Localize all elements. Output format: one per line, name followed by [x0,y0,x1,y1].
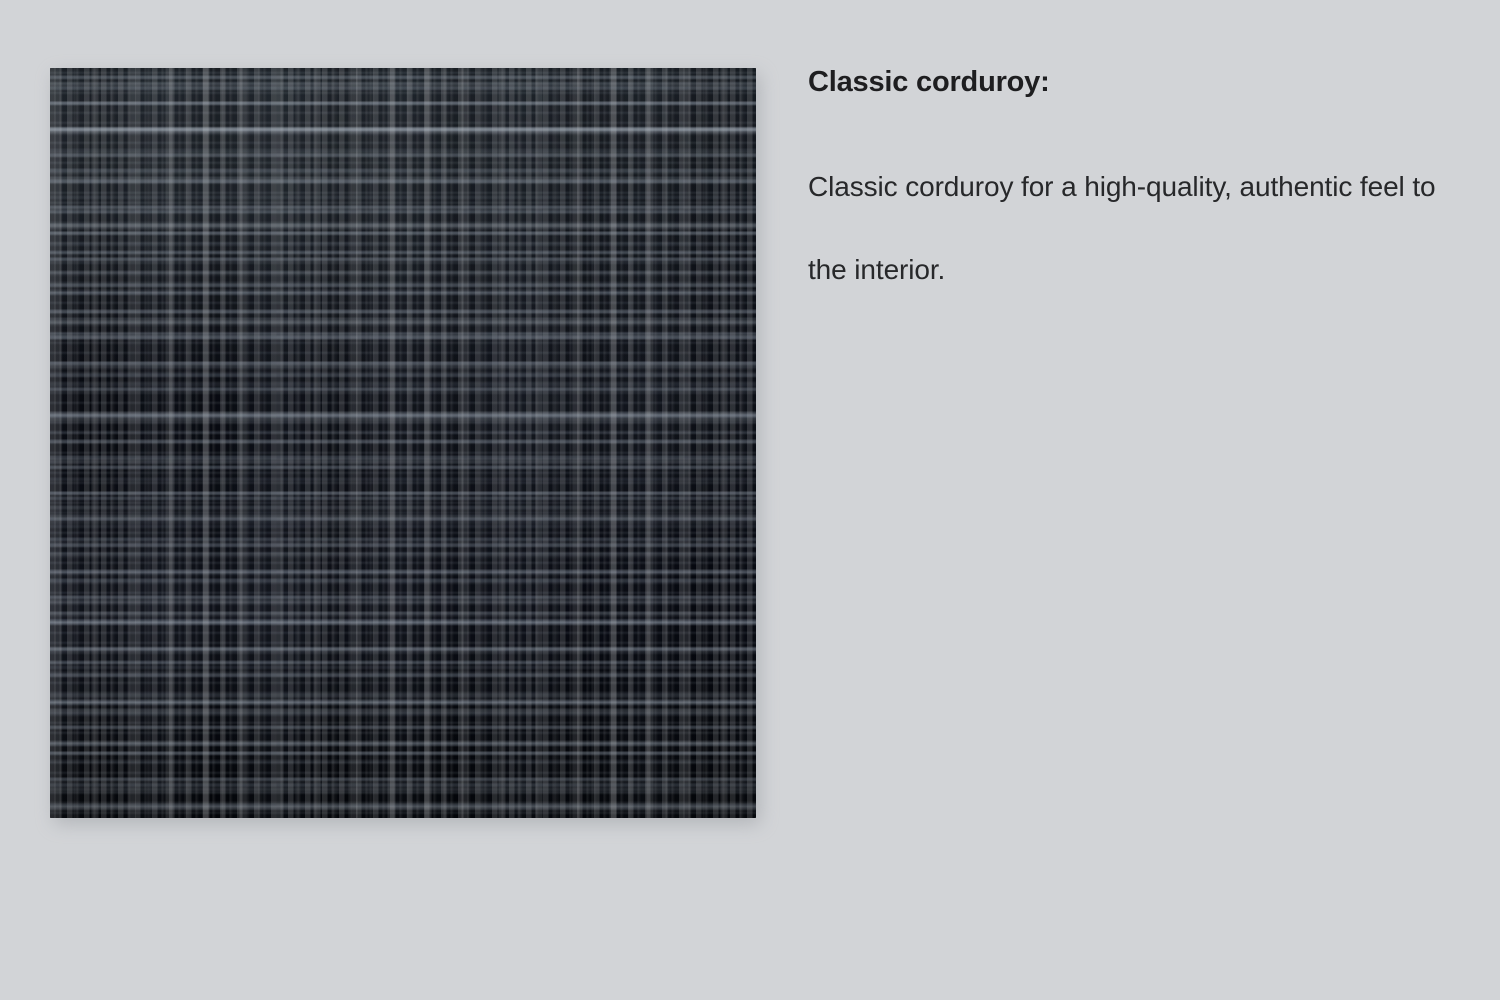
material-heading: Classic corduroy: [808,62,1458,102]
material-swatch-panel[interactable] [50,68,756,818]
material-description-text: Classic corduroy for a high-quality, aut… [808,102,1448,311]
corduroy-texture-image[interactable] [50,68,756,818]
product-material-callout: Classic corduroy: Classic corduroy for a… [0,0,1500,1000]
material-description-block: Classic corduroy: Classic corduroy for a… [808,62,1458,311]
texture-soft-veil-layer [50,68,756,818]
